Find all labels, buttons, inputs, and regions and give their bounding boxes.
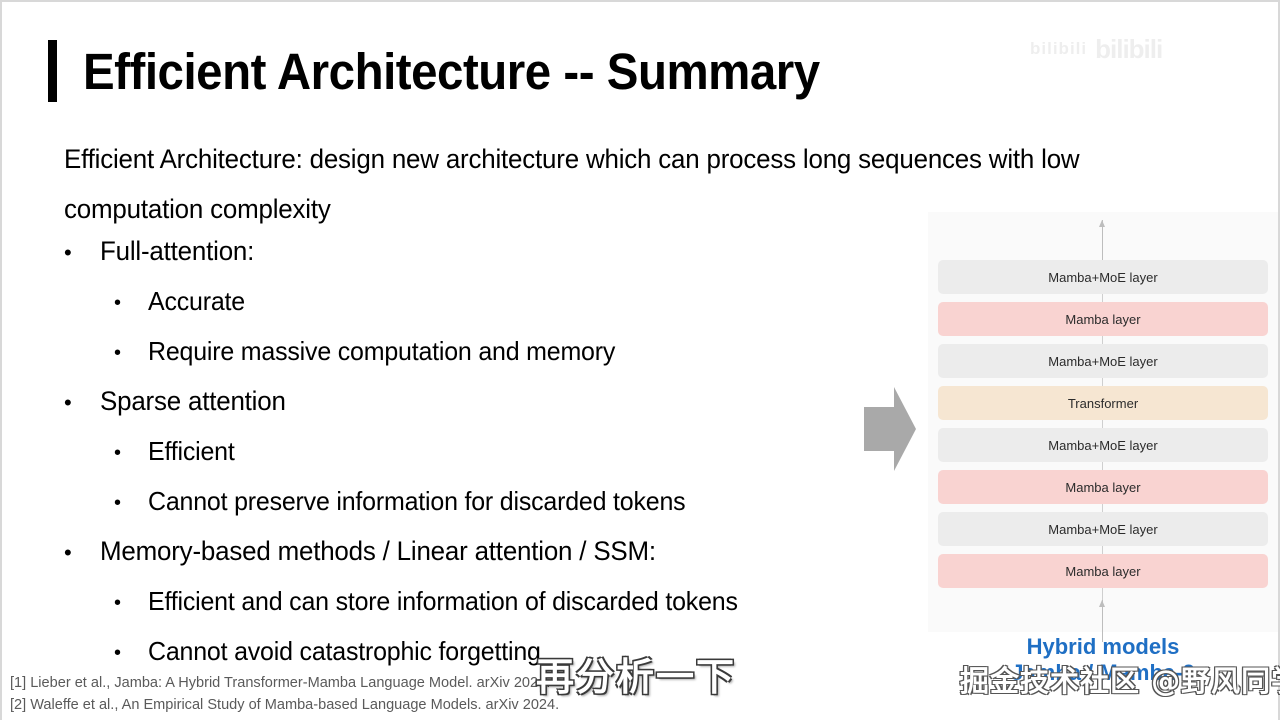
diagram-layer-label: Mamba layer: [1065, 312, 1140, 327]
bullet-dot-icon: •: [64, 532, 100, 564]
bullet-list: •Full-attention:•Accurate•Require massiv…: [64, 232, 924, 682]
bilibili-watermark-text: bilibili: [1030, 39, 1087, 59]
diagram-layer-box: Mamba layer: [938, 554, 1268, 588]
bullet-label: Accurate: [148, 282, 245, 320]
layer-stack: Mamba+MoE layerMamba layerMamba+MoE laye…: [938, 260, 1268, 596]
page-title: Efficient Architecture -- Summary: [83, 46, 820, 97]
bullet-dot-icon: •: [114, 432, 148, 463]
bullet-item: •Efficient and can store information of …: [64, 582, 924, 632]
bullet-dot-icon: •: [114, 582, 148, 613]
bullet-item: •Accurate: [64, 282, 924, 332]
diagram-layer-label: Mamba+MoE layer: [1048, 522, 1157, 537]
diagram-arrow-bottom-icon: [1102, 600, 1103, 642]
bilibili-watermark: bilibili bilibili: [1030, 28, 1270, 70]
bullet-item: •Sparse attention: [64, 382, 924, 432]
diagram-layer-label: Mamba+MoE layer: [1048, 354, 1157, 369]
diagram-layer-box: Mamba layer: [938, 470, 1268, 504]
bullet-dot-icon: •: [114, 332, 148, 363]
block-arrow-right-icon: [864, 383, 916, 475]
diagram-layer-box: Transformer: [938, 386, 1268, 420]
diagram-layer-label: Mamba layer: [1065, 480, 1140, 495]
diagram-layer-label: Mamba+MoE layer: [1048, 270, 1157, 285]
diagram-caption-line2: Jamba / Mamba-2: [928, 660, 1278, 686]
bullet-dot-icon: •: [64, 232, 100, 264]
title-accent-bar: [48, 40, 57, 102]
bullet-label: Efficient and can store information of d…: [148, 582, 738, 620]
diagram-caption: Hybrid models Jamba / Mamba-2: [928, 634, 1278, 686]
slide-canvas: Efficient Architecture -- Summary Effici…: [0, 0, 1280, 720]
diagram-layer-box: Mamba+MoE layer: [938, 260, 1268, 294]
diagram-layer-box: Mamba layer: [938, 302, 1268, 336]
bullet-label: Efficient: [148, 432, 235, 470]
diagram-caption-line1: Hybrid models: [928, 634, 1278, 660]
diagram-layer-label: Mamba layer: [1065, 564, 1140, 579]
diagram-layer-label: Transformer: [1068, 396, 1138, 411]
bullet-label: Full-attention:: [100, 232, 254, 270]
title-row: Efficient Architecture -- Summary: [48, 40, 875, 102]
references-block: [1] Lieber et al., Jamba: A Hybrid Trans…: [10, 672, 559, 716]
slide-border-top: [0, 0, 1280, 2]
diagram-layer-box: Mamba+MoE layer: [938, 512, 1268, 546]
bullet-item: •Efficient: [64, 432, 924, 482]
bullet-label: Cannot avoid catastrophic forgetting: [148, 632, 541, 670]
reference-line: [1] Lieber et al., Jamba: A Hybrid Trans…: [10, 672, 559, 694]
bullet-item: •Cannot preserve information for discard…: [64, 482, 924, 532]
diagram-arrow-top-icon: [1102, 220, 1103, 260]
bullet-dot-icon: •: [114, 632, 148, 663]
hybrid-model-diagram: Mamba+MoE layerMamba layerMamba+MoE laye…: [928, 212, 1278, 632]
slide-border-left: [0, 0, 2, 720]
bullet-dot-icon: •: [114, 482, 148, 513]
bullet-dot-icon: •: [114, 282, 148, 313]
diagram-layer-label: Mamba+MoE layer: [1048, 438, 1157, 453]
reference-line: [2] Waleffe et al., An Empirical Study o…: [10, 694, 559, 716]
diagram-layer-box: Mamba+MoE layer: [938, 344, 1268, 378]
bilibili-logo-icon: bilibili: [1095, 34, 1162, 65]
bullet-label: Cannot preserve information for discarde…: [148, 482, 685, 520]
bullet-item: •Require massive computation and memory: [64, 332, 924, 382]
bullet-label: Require massive computation and memory: [148, 332, 615, 370]
bullet-item: •Memory-based methods / Linear attention…: [64, 532, 924, 582]
bullet-item: •Full-attention:: [64, 232, 924, 282]
bullet-label: Sparse attention: [100, 382, 286, 420]
diagram-layer-box: Mamba+MoE layer: [938, 428, 1268, 462]
bullet-label: Memory-based methods / Linear attention …: [100, 532, 656, 570]
bullet-dot-icon: •: [64, 382, 100, 414]
